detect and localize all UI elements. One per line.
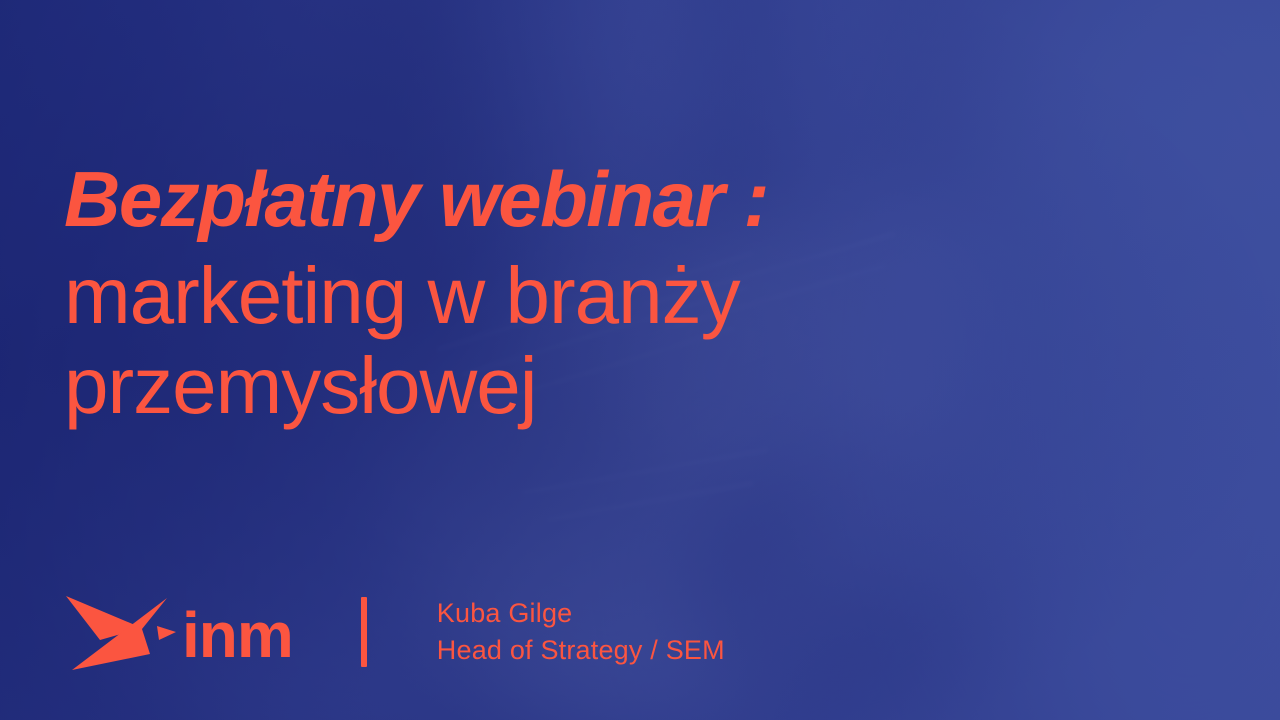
inm-bird-mark-icon [64, 592, 176, 672]
headline-line-1: Bezpłatny webinar : [64, 160, 1094, 246]
footer-bar: inm Kuba Gilge Head of Strategy / SEM [64, 586, 725, 678]
headline-line-2: marketing w branży [64, 256, 1094, 336]
webinar-title-slide: Bezpłatny webinar : marketing w branży p… [0, 0, 1280, 720]
inm-logo[interactable]: inm [64, 592, 293, 672]
speaker-name: Kuba Gilge [437, 595, 725, 632]
headline-block: Bezpłatny webinar : marketing w branży p… [64, 160, 1094, 426]
footer-divider [361, 597, 367, 667]
speaker-role: Head of Strategy / SEM [437, 632, 725, 669]
inm-wordmark: inm [182, 603, 293, 667]
headline-line-3: przemysłowej [64, 346, 1094, 426]
speaker-info: Kuba Gilge Head of Strategy / SEM [437, 595, 725, 668]
